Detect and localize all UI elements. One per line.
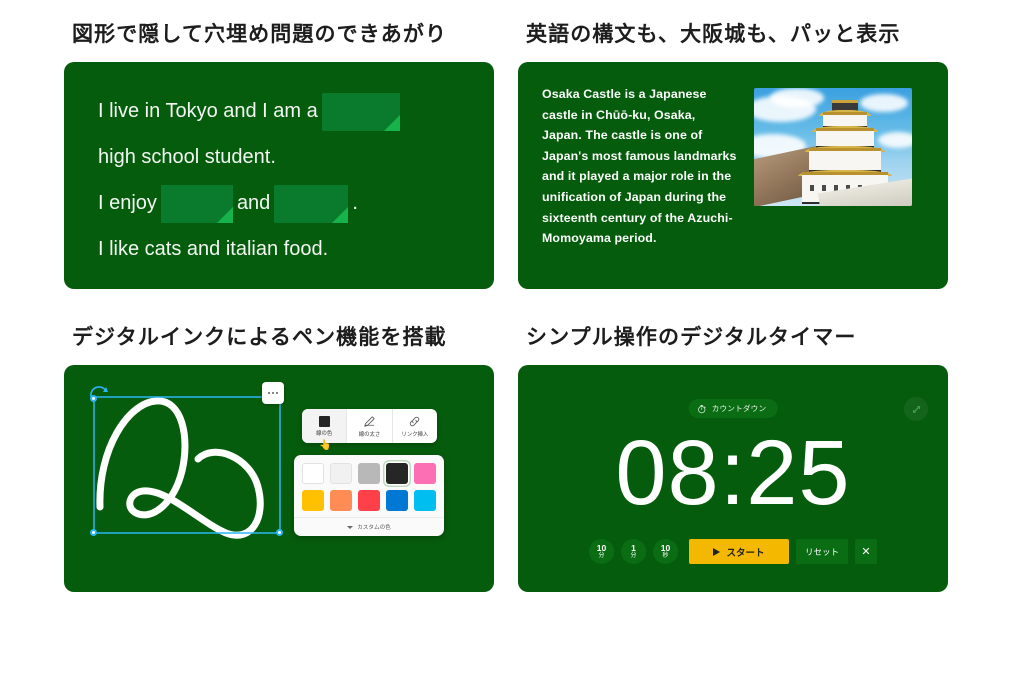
blackboard-cloze: I live in Tokyo and I am a high school s… — [64, 62, 494, 289]
cloze-text: I live in Tokyo and I am a high school s… — [98, 88, 476, 272]
swatch-light-gray-transparent[interactable] — [330, 463, 352, 484]
swatch-amber[interactable] — [302, 490, 324, 511]
cloze-line-2: high school student. — [98, 134, 476, 180]
quick-value: 1 — [631, 544, 636, 553]
swatch-red[interactable] — [358, 490, 380, 511]
tab-line-color[interactable]: 線の色 — [302, 409, 347, 443]
cloze-line-3-before: I enjoy — [98, 192, 157, 214]
tower-tier — [816, 128, 874, 148]
play-icon — [713, 548, 720, 556]
tower-window — [810, 185, 814, 191]
tab-line-width-label: 線の太さ — [359, 430, 381, 438]
color-palette-popover: カスタムの色 — [294, 455, 444, 536]
dot — [272, 392, 274, 394]
color-swatch-icon — [319, 416, 330, 427]
pencil-icon — [363, 415, 376, 428]
tab-insert-link-label: リンク挿入 — [401, 430, 428, 438]
stopwatch-icon — [697, 404, 707, 414]
selection-handle-bottom-right[interactable] — [276, 529, 283, 536]
reset-button[interactable]: リセット — [796, 539, 848, 564]
swatch-pink[interactable] — [414, 463, 436, 484]
tab-line-color-label: 線の色 — [316, 429, 332, 437]
card-osaka: 英語の構文も、大阪城も、パッと表示 Osaka Castle is a Japa… — [518, 18, 948, 289]
quick-add-1-min[interactable]: 1 分 — [621, 539, 646, 564]
chevron-down-icon — [347, 526, 353, 529]
swatch-blue[interactable] — [386, 490, 408, 511]
cloze-line-2-text: high school student. — [98, 146, 276, 168]
dot — [276, 392, 278, 394]
cloze-line-1-text: I live in Tokyo and I am a — [98, 100, 318, 122]
swatch-orange[interactable] — [330, 490, 352, 511]
tower-tier — [809, 148, 881, 172]
cloze-line-4: I like cats and italian food. — [98, 226, 476, 272]
timer-mode-label: カウントダウン — [712, 403, 767, 414]
palette-row-1 — [302, 463, 436, 484]
cloze-line-1: I live in Tokyo and I am a — [98, 88, 476, 134]
ink-toolbar: 線の色 線の太さ リンク挿入 — [302, 409, 437, 443]
swatch-black[interactable] — [386, 463, 408, 484]
swatch-white[interactable] — [302, 463, 324, 484]
osaka-body-text: Osaka Castle is a Japanese castle in Chū… — [542, 84, 738, 269]
cloze-mask-2[interactable] — [161, 185, 233, 223]
card-ink: デジタルインクによるペン機能を搭載 — [64, 321, 494, 592]
timer-controls: 10 分 1 分 10 秒 スタート — [518, 539, 948, 564]
dot — [268, 392, 270, 394]
page-root: 図形で隠して穴埋め問題のできあがり I live in Tokyo and I … — [0, 0, 1010, 673]
selection-rectangle[interactable] — [92, 395, 282, 535]
card-grid: 図形で隠して穴埋め問題のできあがり I live in Tokyo and I … — [64, 18, 948, 592]
expand-button[interactable] — [904, 397, 928, 421]
start-button[interactable]: スタート — [689, 539, 789, 564]
selection-handle-top-left[interactable] — [90, 395, 97, 402]
link-icon — [408, 415, 421, 428]
cursor-pointer-icon: 👆 — [319, 441, 331, 451]
cloze-line-3: I enjoyand. — [98, 180, 476, 226]
cloze-mask-3[interactable] — [274, 185, 348, 223]
blackboard-ink: 線の色 線の太さ リンク挿入 — [64, 365, 494, 592]
cloze-line-4-text: I like cats and italian food. — [98, 238, 328, 260]
expand-diagonal-icon — [910, 403, 923, 416]
tab-insert-link[interactable]: リンク挿入 — [393, 409, 437, 443]
card-title-osaka: 英語の構文も、大阪城も、パッと表示 — [526, 18, 948, 48]
blackboard-osaka: Osaka Castle is a Japanese castle in Chū… — [518, 62, 948, 289]
cloze-mask-1[interactable] — [322, 93, 400, 131]
osaka-layout: Osaka Castle is a Japanese castle in Chū… — [518, 62, 948, 289]
more-options-icon[interactable] — [262, 382, 284, 404]
card-cloze: 図形で隠して穴埋め問題のできあがり I live in Tokyo and I … — [64, 18, 494, 289]
osaka-castle-photo — [754, 88, 912, 206]
quick-value: 10 — [661, 544, 670, 553]
custom-color-button[interactable]: カスタムの色 — [294, 517, 444, 536]
card-title-timer: シンプル操作のデジタルタイマー — [526, 321, 948, 351]
selection-handle-bottom-left[interactable] — [90, 529, 97, 536]
blackboard-timer: カウントダウン 08:25 10 分 1 — [518, 365, 948, 592]
tower-window — [822, 185, 826, 191]
timer-mode-chip[interactable]: カウントダウン — [689, 399, 778, 418]
card-title-ink: デジタルインクによるペン機能を搭載 — [72, 321, 494, 351]
custom-color-label: カスタムの色 — [357, 523, 391, 531]
swatch-gray[interactable] — [358, 463, 380, 484]
swatch-cyan[interactable] — [414, 490, 436, 511]
card-title-cloze: 図形で隠して穴埋め問題のできあがり — [72, 18, 494, 48]
timer-display: 08:25 — [518, 427, 948, 519]
start-button-label: スタート — [726, 545, 764, 559]
quick-unit: 分 — [598, 553, 604, 559]
quick-value: 10 — [597, 544, 606, 553]
quick-add-10-sec[interactable]: 10 秒 — [653, 539, 678, 564]
quick-unit: 秒 — [662, 553, 668, 559]
card-timer: シンプル操作のデジタルタイマー カウントダウン — [518, 321, 948, 592]
close-button[interactable]: ✕ — [855, 539, 877, 564]
quick-add-10-min[interactable]: 10 分 — [589, 539, 614, 564]
quick-unit: 分 — [630, 553, 636, 559]
close-icon: ✕ — [861, 545, 870, 558]
cloze-line-3-mid: and — [237, 192, 270, 214]
palette-row-2 — [302, 490, 436, 511]
tab-line-width[interactable]: 線の太さ — [347, 409, 392, 443]
cloze-line-3-after: . — [352, 192, 358, 214]
reset-button-label: リセット — [805, 546, 839, 558]
castle-illustration — [754, 88, 912, 206]
